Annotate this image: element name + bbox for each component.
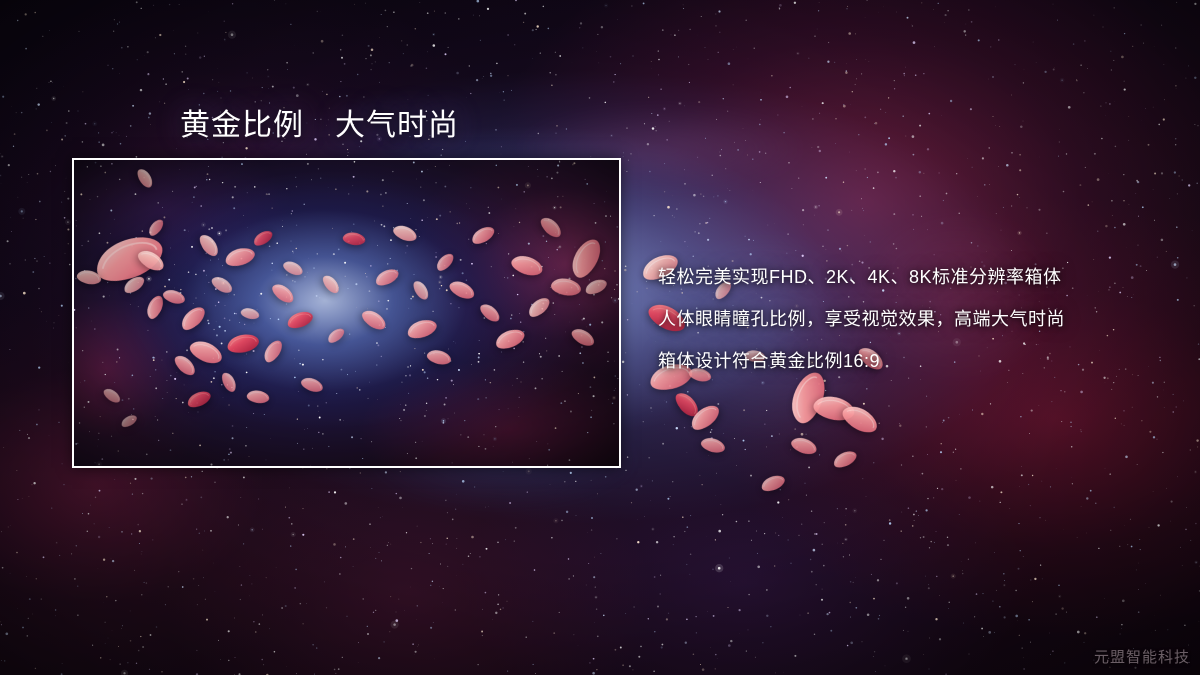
petal	[812, 396, 856, 421]
body-copy-block: 轻松完美实现FHD、2K、4K、8K标准分辨率箱体 人体眼睛瞳孔比例，享受视觉效…	[658, 256, 1178, 382]
petal	[700, 438, 726, 453]
photo-vignette	[74, 160, 619, 466]
body-line-1: 轻松完美实现FHD、2K、4K、8K标准分辨率箱体	[658, 256, 1178, 298]
page-title: 黄金比例 大气时尚	[180, 100, 459, 144]
petal	[780, 382, 836, 413]
petal	[760, 476, 786, 491]
galaxy-petals-photo[interactable]	[72, 158, 621, 468]
slide-canvas: 黄金比例 大气时尚 轻松完美实现FHD、2K、4K、8K标准分辨率箱体 人体眼睛…	[0, 0, 1200, 675]
petal	[832, 452, 858, 467]
petal	[688, 408, 722, 427]
petal	[790, 438, 818, 454]
body-line-2: 人体眼睛瞳孔比例，享受视觉效果，高端大气时尚	[658, 298, 1178, 340]
petal	[672, 396, 702, 413]
petal	[840, 408, 880, 430]
body-line-3: 箱体设计符合黄金比例16:9	[658, 340, 1178, 382]
watermark-text: 元盟智能科技	[1094, 646, 1190, 667]
